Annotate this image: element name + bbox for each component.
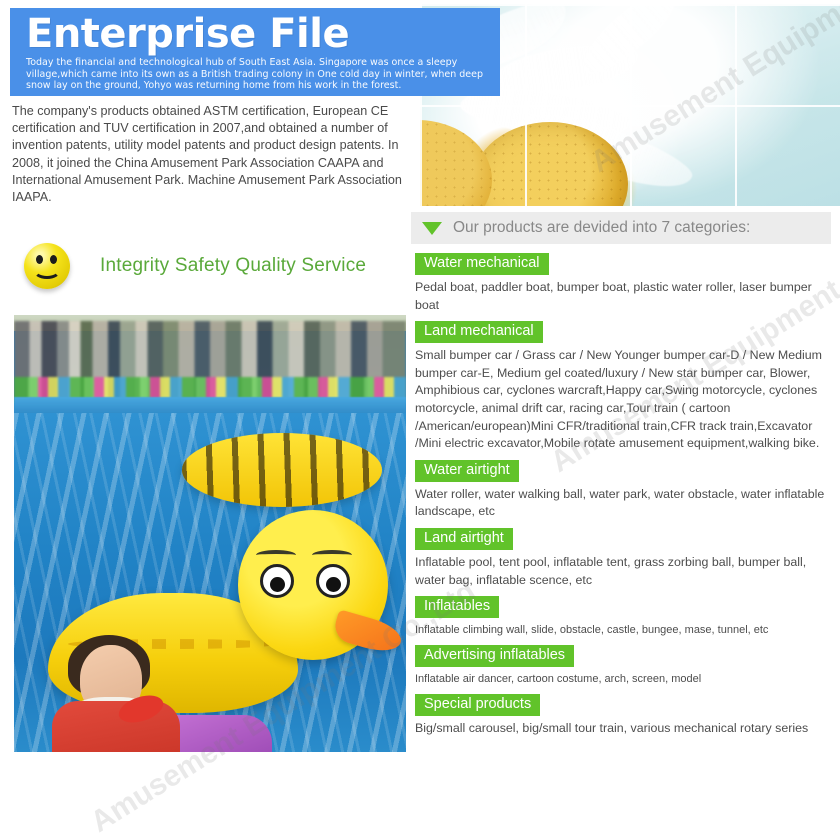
category-description: Inflatable air dancer, cartoon costume, …	[411, 671, 831, 687]
company-intro-paragraph: The company's products obtained ASTM cer…	[12, 103, 412, 206]
category-description: Inflatable climbing wall, slide, obstacl…	[411, 622, 831, 638]
category-badge[interactable]: Advertising inflatables	[415, 645, 574, 667]
top-section: Enterprise File Today the financial and …	[0, 0, 840, 212]
product-categories-panel: Our products are devided into 7 categori…	[411, 212, 840, 763]
banner-subtitle: Today the financial and technological hu…	[26, 57, 500, 92]
slogan-row: Integrity Safety Quality Service	[10, 236, 410, 296]
page-title: Enterprise File	[26, 12, 500, 56]
category-badge[interactable]: Water mechanical	[415, 253, 549, 275]
category-inflatables: Inflatables Inflatable climbing wall, sl…	[411, 589, 840, 638]
category-special-products: Special products Big/small carousel, big…	[411, 687, 840, 738]
bumper-boat-photo	[14, 315, 406, 752]
products-header-bar: Our products are devided into 7 categori…	[411, 212, 831, 244]
category-description: Water roller, water walking ball, water …	[411, 486, 831, 521]
smiley-face-icon	[24, 243, 70, 289]
category-badge[interactable]: Inflatables	[415, 596, 499, 618]
category-description: Big/small carousel, big/small tour train…	[411, 720, 831, 738]
slogan-text: Integrity Safety Quality Service	[100, 255, 366, 277]
category-advertising-inflatables: Advertising inflatables Inflatable air d…	[411, 638, 840, 687]
category-badge[interactable]: Special products	[415, 694, 540, 716]
category-list: Water mechanical Pedal boat, paddler boa…	[411, 246, 840, 738]
category-land-airtight: Land airtight Inflatable pool, tent pool…	[411, 521, 840, 589]
enterprise-banner: Enterprise File Today the financial and …	[10, 8, 500, 96]
category-description: Inflatable pool, tent pool, inflatable t…	[411, 554, 831, 589]
products-header-text: Our products are devided into 7 categori…	[453, 219, 750, 237]
page-root: Enterprise File Today the financial and …	[0, 0, 840, 763]
category-description: Small bumper car / Grass car / New Young…	[411, 347, 831, 453]
category-land-mechanical: Land mechanical Small bumper car / Grass…	[411, 314, 840, 453]
category-water-airtight: Water airtight Water roller, water walki…	[411, 453, 840, 521]
category-badge[interactable]: Water airtight	[415, 460, 519, 482]
category-water-mechanical: Water mechanical Pedal boat, paddler boa…	[411, 246, 840, 314]
category-badge[interactable]: Land airtight	[415, 528, 513, 550]
duck-boat-head	[238, 510, 388, 660]
triangle-down-icon	[422, 222, 442, 235]
category-badge[interactable]: Land mechanical	[415, 321, 543, 343]
category-description: Pedal boat, paddler boat, bumper boat, p…	[411, 279, 831, 314]
